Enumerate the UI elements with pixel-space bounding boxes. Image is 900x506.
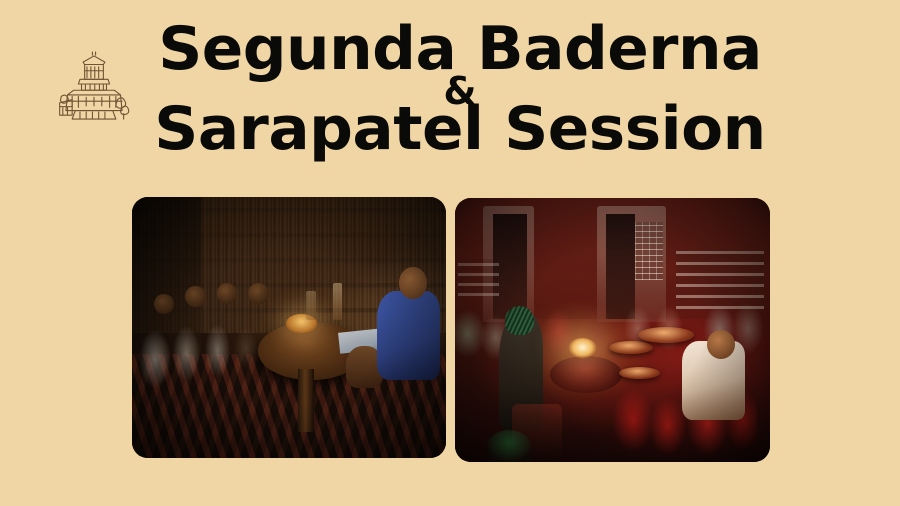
green-braided-hair (505, 306, 533, 335)
photo-session-scene (455, 198, 770, 462)
bottle (306, 291, 315, 320)
bottle (333, 283, 342, 320)
casa-building-logo-icon (55, 45, 133, 123)
photo-library-scene (132, 197, 446, 458)
poster-title-block: Segunda Baderna & Sarapatel Session (150, 22, 770, 158)
audience-head (217, 283, 237, 304)
shelving-unit-left (458, 259, 499, 296)
photo-drum-session (455, 198, 770, 462)
audience-head (248, 283, 268, 304)
table-lamp-glow (568, 338, 596, 359)
audience-head (185, 286, 205, 307)
title-line-secondary: Sarapatel Session (144, 102, 776, 158)
title-line-primary: Segunda Baderna (144, 22, 776, 78)
cymbal (619, 367, 660, 379)
performer-blue-shirt (377, 291, 440, 380)
table-pedestal (298, 369, 314, 432)
performer-head (399, 267, 427, 298)
photo-library-session (132, 197, 446, 458)
foreground-figure (487, 430, 531, 462)
cymbal (609, 341, 653, 354)
round-table (550, 356, 622, 393)
event-poster: Segunda Baderna & Sarapatel Session (0, 0, 900, 506)
window-panes (635, 222, 663, 280)
